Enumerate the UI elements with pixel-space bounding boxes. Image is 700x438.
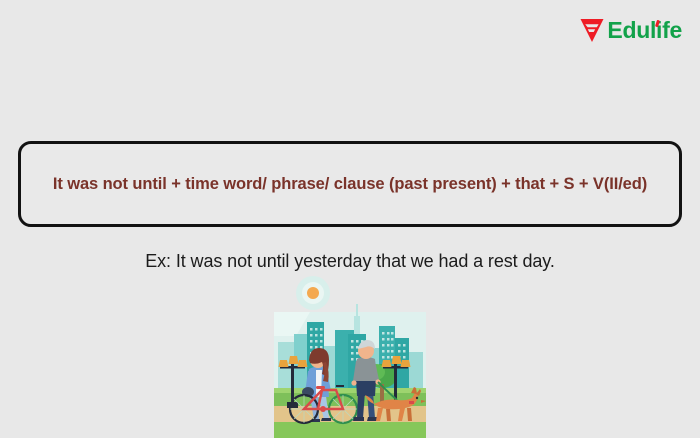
- brand-name: Edulife: [607, 19, 682, 42]
- sun-icon: [296, 276, 330, 310]
- formula-box: It was not until + time word/ phrase/ cl…: [18, 141, 682, 227]
- city-park-scene-illustration: [266, 276, 434, 438]
- formula-text: It was not until + time word/ phrase/ cl…: [53, 175, 647, 194]
- example-sentence: Ex: It was not until yesterday that we h…: [0, 251, 700, 272]
- brand-logo: Edulife: [579, 16, 682, 44]
- triangle-f-logo-icon: [579, 16, 605, 44]
- brand-name-text: Edulife: [607, 17, 682, 43]
